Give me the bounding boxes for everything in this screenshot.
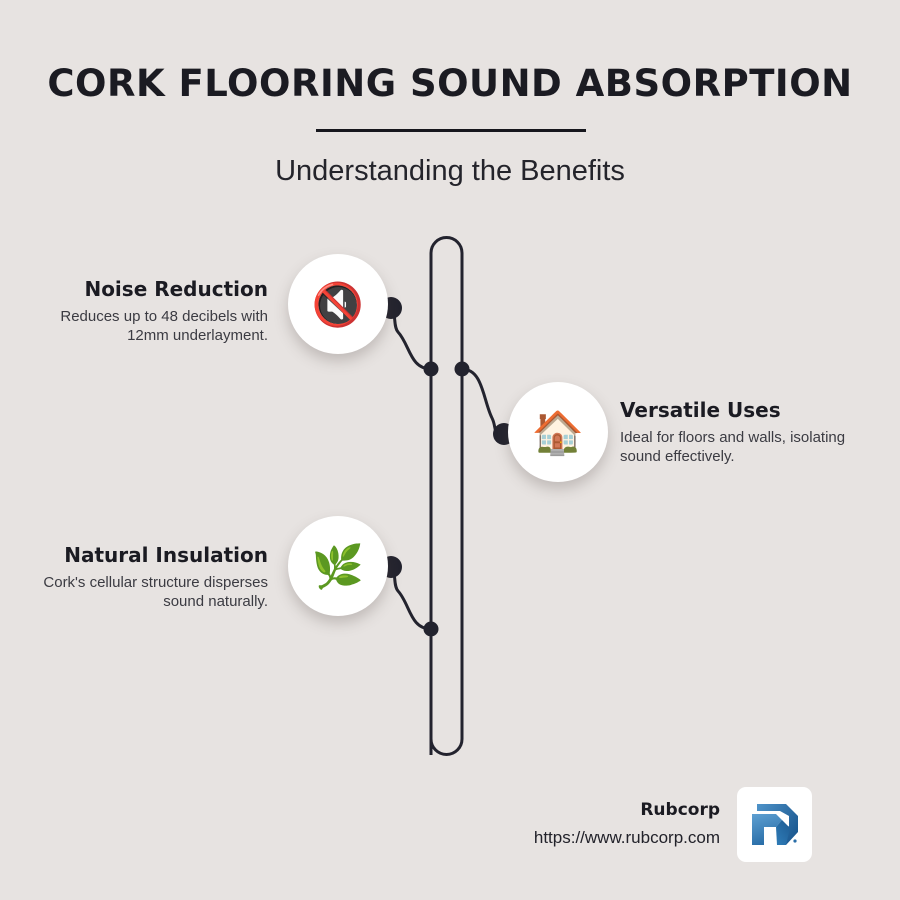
muted-speaker-icon: 🔇 <box>312 284 364 326</box>
benefit-block-versatile-uses: Versatile Uses Ideal for floors and wall… <box>620 397 870 466</box>
spine-node-natural-insulation <box>424 622 439 637</box>
benefit-block-noise-reduction: Noise Reduction Reduces up to 48 decibel… <box>18 276 268 345</box>
page-subtitle: Understanding the Benefits <box>0 152 900 190</box>
spine-node-versatile-uses <box>455 362 470 377</box>
branch-connector-natural-insulation <box>388 567 431 629</box>
brand-url[interactable]: https://www.rubcorp.com <box>420 828 720 848</box>
benefit-description: Reduces up to 48 decibels with 12mm unde… <box>18 307 268 345</box>
brand-name: Rubcorp <box>460 800 720 820</box>
spine-pill <box>431 238 462 756</box>
benefit-description: Ideal for floors and walls, isolating so… <box>620 428 870 466</box>
icon-badge-natural-insulation: 🌿 <box>288 516 388 616</box>
rubcorp-r-logo-icon <box>746 796 804 854</box>
benefit-title: Natural Insulation <box>18 542 268 568</box>
benefit-title: Versatile Uses <box>620 397 870 423</box>
benefit-title: Noise Reduction <box>18 276 268 302</box>
icon-badge-noise-reduction: 🔇 <box>288 254 388 354</box>
icon-badge-versatile-uses: 🏠 <box>508 382 608 482</box>
page-title: CORK FLOORING SOUND ABSORPTION <box>0 62 900 106</box>
brand-logo <box>737 787 812 862</box>
spine-node-noise-reduction <box>424 362 439 377</box>
benefit-block-natural-insulation: Natural Insulation Cork's cellular struc… <box>18 542 268 611</box>
herb-leaf-icon: 🌿 <box>312 546 364 588</box>
infographic-canvas: CORK FLOORING SOUND ABSORPTION Understan… <box>0 0 900 900</box>
house-icon: 🏠 <box>532 412 584 454</box>
branch-connector-noise-reduction <box>388 308 431 369</box>
branch-connector-versatile-uses <box>462 369 503 434</box>
title-divider <box>316 129 586 132</box>
benefit-description: Cork's cellular structure disperses soun… <box>18 573 268 611</box>
